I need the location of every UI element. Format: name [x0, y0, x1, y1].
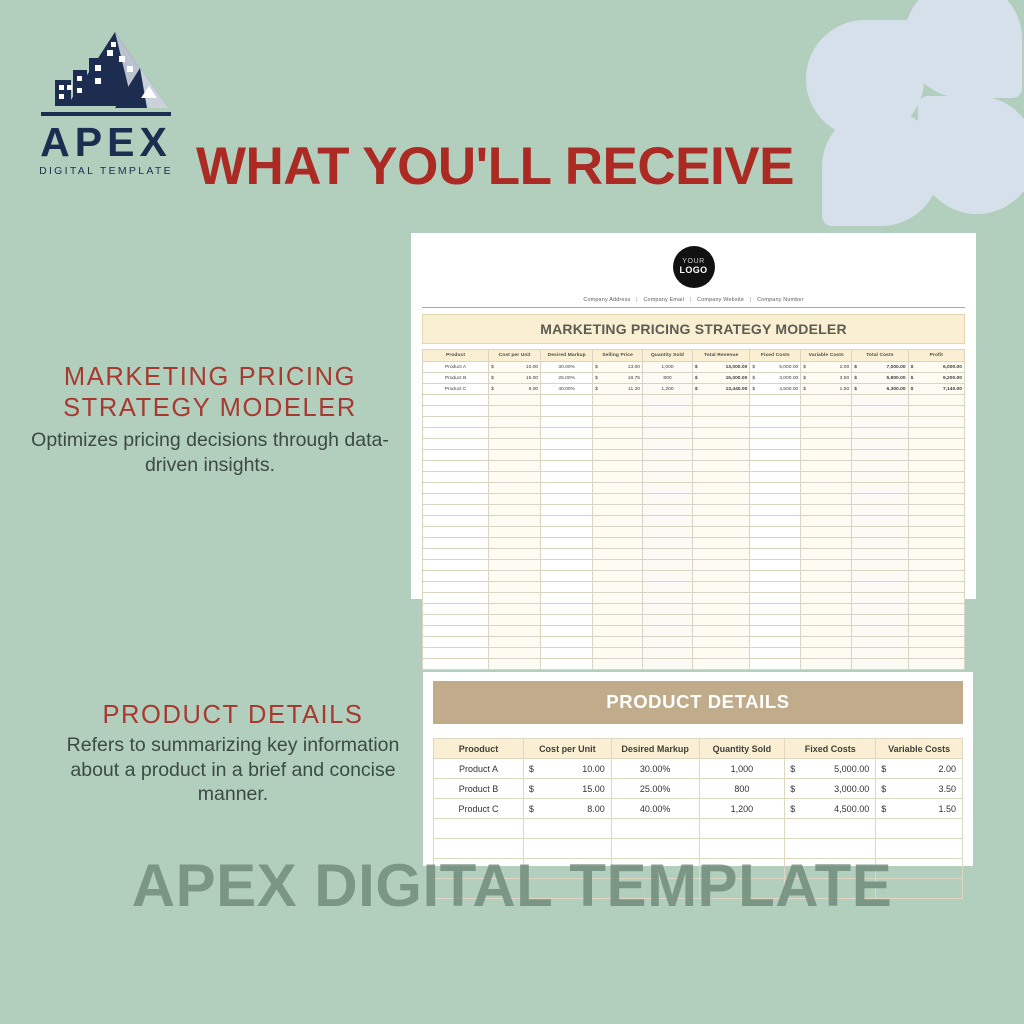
details-col-header: Prooduct [434, 739, 524, 759]
pricing-empty-cell [643, 593, 693, 604]
pricing-empty-cell [541, 406, 593, 417]
pricing-empty-cell [801, 494, 852, 505]
pricing-table-empty-row [423, 505, 965, 516]
details-cell-desired-markup: 40.00% [611, 799, 699, 819]
pricing-empty-cell [643, 582, 693, 593]
pricing-empty-cell [852, 472, 908, 483]
pricing-table-empty-row [423, 582, 965, 593]
details-empty-cell [785, 839, 876, 859]
pricing-empty-cell [852, 648, 908, 659]
pricing-cell-quantity-sold: 800 [643, 373, 693, 384]
pricing-empty-cell [852, 637, 908, 648]
pricing-empty-cell [852, 593, 908, 604]
pricing-empty-cell [489, 483, 541, 494]
pricing-empty-cell [801, 549, 852, 560]
pricing-empty-cell [852, 571, 908, 582]
section-description: Refers to summarizing key information ab… [60, 733, 406, 807]
details-empty-cell [523, 879, 611, 899]
pricing-empty-cell [541, 461, 593, 472]
contact-number: Company Number [757, 297, 804, 303]
pricing-cell-variable-costs: $3.50 [801, 373, 852, 384]
pricing-empty-cell [643, 604, 693, 615]
pricing-cell-selling-price: $13.00 [593, 362, 643, 373]
pricing-empty-cell [643, 648, 693, 659]
pricing-col-header: Product [423, 350, 489, 362]
details-empty-cell [785, 879, 876, 899]
pricing-empty-cell [593, 560, 643, 571]
pricing-empty-cell [489, 406, 541, 417]
your-logo-badge: YOUR LOGO [673, 246, 715, 288]
pricing-empty-cell [423, 560, 489, 571]
details-cell-fixed-costs: $3,000.00 [785, 779, 876, 799]
contact-email: Company Email [643, 297, 684, 303]
pricing-empty-cell [593, 428, 643, 439]
pricing-empty-cell [423, 417, 489, 428]
details-empty-cell [611, 859, 699, 879]
pricing-col-header: Total Revenue [692, 350, 749, 362]
pricing-empty-cell [423, 395, 489, 406]
contact-separator: | [686, 297, 696, 303]
pricing-empty-cell [643, 417, 693, 428]
pricing-empty-cell [750, 417, 801, 428]
pricing-empty-cell [801, 516, 852, 527]
pricing-empty-cell [593, 516, 643, 527]
pricing-empty-cell [852, 516, 908, 527]
pricing-table-empty-row [423, 527, 965, 538]
pricing-empty-cell [692, 604, 749, 615]
pricing-empty-cell [489, 626, 541, 637]
pricing-cell-total-revenue: $15,000.00 [692, 373, 749, 384]
product-details-spreadsheet-preview: PRODUCT DETAILS ProoductCost per UnitDes… [423, 672, 973, 866]
details-empty-cell [611, 819, 699, 839]
pricing-empty-cell [852, 505, 908, 516]
pricing-cell-product: Product B [423, 373, 489, 384]
pricing-empty-cell [908, 538, 964, 549]
pricing-empty-cell [593, 637, 643, 648]
pricing-table-empty-row [423, 604, 965, 615]
pricing-empty-cell [541, 637, 593, 648]
pricing-empty-cell [908, 461, 964, 472]
pricing-table-row: Product A$10.0030.00%$13.001,000$13,000.… [423, 362, 965, 373]
details-empty-cell [699, 879, 785, 899]
pricing-empty-cell [593, 494, 643, 505]
product-details-table: ProoductCost per UnitDesired MarkupQuant… [433, 738, 963, 899]
pricing-empty-cell [593, 483, 643, 494]
pricing-empty-cell [908, 428, 964, 439]
pricing-empty-cell [489, 461, 541, 472]
pricing-empty-cell [750, 615, 801, 626]
pricing-empty-cell [692, 593, 749, 604]
pricing-empty-cell [852, 560, 908, 571]
pricing-col-header: Selling Price [593, 350, 643, 362]
pricing-empty-cell [852, 417, 908, 428]
page-title: WHAT YOU'LL RECEIVE [196, 140, 794, 193]
pricing-col-header: Total Costs [852, 350, 908, 362]
pricing-empty-cell [643, 571, 693, 582]
pricing-empty-cell [801, 439, 852, 450]
details-table-row: Product A$10.0030.00%1,000$5,000.00$2.00 [434, 759, 963, 779]
section-details-copy: PRODUCT DETAILS Refers to summarizing ke… [60, 700, 406, 807]
pricing-empty-cell [643, 439, 693, 450]
pricing-empty-cell [801, 450, 852, 461]
pricing-table-empty-row [423, 615, 965, 626]
details-cell-variable-costs: $3.50 [876, 779, 963, 799]
details-empty-cell [876, 819, 963, 839]
pricing-cell-total-costs: $7,000.00 [852, 362, 908, 373]
pricing-table-empty-row [423, 461, 965, 472]
pricing-empty-cell [852, 450, 908, 461]
details-col-header: Quantity Sold [699, 739, 785, 759]
four-petal-flower-icon [806, 0, 1024, 234]
pricing-empty-cell [852, 582, 908, 593]
pricing-empty-cell [852, 659, 908, 670]
pricing-cell-desired-markup: 25.00% [541, 373, 593, 384]
pricing-empty-cell [541, 395, 593, 406]
pricing-empty-cell [489, 516, 541, 527]
pricing-empty-cell [489, 637, 541, 648]
pricing-empty-cell [801, 505, 852, 516]
pricing-table-empty-row [423, 549, 965, 560]
pricing-table-empty-row [423, 626, 965, 637]
pricing-empty-cell [593, 615, 643, 626]
pricing-cell-profit: $9,200.00 [908, 373, 964, 384]
pricing-empty-cell [423, 472, 489, 483]
details-cell-product: Product A [434, 759, 524, 779]
pricing-cell-total-revenue: $13,000.00 [692, 362, 749, 373]
details-empty-cell [876, 879, 963, 899]
pricing-empty-cell [593, 593, 643, 604]
pricing-empty-cell [643, 450, 693, 461]
pricing-col-header: Fixed Costs [750, 350, 801, 362]
details-col-header: Desired Markup [611, 739, 699, 759]
pricing-empty-cell [489, 593, 541, 604]
pricing-empty-cell [852, 483, 908, 494]
pricing-empty-cell [423, 527, 489, 538]
pricing-empty-cell [908, 659, 964, 670]
pricing-col-header: Desired Markup [541, 350, 593, 362]
pricing-empty-cell [643, 461, 693, 472]
pricing-empty-cell [423, 428, 489, 439]
pricing-empty-cell [643, 637, 693, 648]
section-pricing-copy: MARKETING PRICING STRATEGY MODELER Optim… [8, 362, 412, 477]
pricing-empty-cell [908, 560, 964, 571]
pricing-empty-cell [908, 626, 964, 637]
pricing-table-empty-row [423, 428, 965, 439]
pricing-col-header: Cost per Unit [489, 350, 541, 362]
section-title: PRODUCT DETAILS [60, 700, 406, 731]
pricing-empty-cell [750, 560, 801, 571]
details-empty-cell [699, 819, 785, 839]
pricing-empty-cell [801, 527, 852, 538]
pricing-empty-cell [423, 549, 489, 560]
details-table-body: Product A$10.0030.00%1,000$5,000.00$2.00… [434, 759, 963, 899]
pricing-empty-cell [541, 538, 593, 549]
pricing-empty-cell [692, 417, 749, 428]
pricing-empty-cell [692, 571, 749, 582]
pricing-empty-cell [801, 637, 852, 648]
pricing-empty-cell [801, 417, 852, 428]
pricing-empty-cell [489, 428, 541, 439]
pricing-empty-cell [852, 461, 908, 472]
pricing-empty-cell [801, 472, 852, 483]
pricing-empty-cell [643, 406, 693, 417]
pricing-empty-cell [593, 571, 643, 582]
details-col-header: Variable Costs [876, 739, 963, 759]
pricing-table-empty-row [423, 516, 965, 527]
pricing-cell-product: Product A [423, 362, 489, 373]
pricing-empty-cell [541, 428, 593, 439]
pricing-empty-cell [423, 483, 489, 494]
pricing-empty-cell [692, 516, 749, 527]
pricing-empty-cell [643, 538, 693, 549]
pricing-empty-cell [852, 527, 908, 538]
pricing-empty-cell [908, 406, 964, 417]
pricing-empty-cell [908, 472, 964, 483]
pricing-cell-fixed-costs: $3,000.00 [750, 373, 801, 384]
pricing-spreadsheet-preview: YOUR LOGO Company Address | Company Emai… [411, 233, 976, 599]
pricing-empty-cell [692, 461, 749, 472]
pricing-empty-cell [541, 549, 593, 560]
pricing-cell-variable-costs: $1.50 [801, 384, 852, 395]
pricing-empty-cell [423, 615, 489, 626]
pricing-empty-cell [908, 439, 964, 450]
pricing-empty-cell [643, 494, 693, 505]
pricing-empty-cell [692, 428, 749, 439]
pricing-empty-cell [852, 406, 908, 417]
pricing-table-empty-row [423, 648, 965, 659]
details-empty-cell [876, 839, 963, 859]
pricing-empty-cell [423, 659, 489, 670]
pricing-empty-cell [692, 560, 749, 571]
pricing-empty-cell [750, 483, 801, 494]
pricing-empty-cell [593, 439, 643, 450]
pricing-empty-cell [423, 450, 489, 461]
pricing-empty-cell [541, 593, 593, 604]
pricing-empty-cell [489, 659, 541, 670]
pricing-empty-cell [643, 560, 693, 571]
pricing-empty-cell [489, 494, 541, 505]
pricing-empty-cell [908, 604, 964, 615]
pricing-cell-desired-markup: 40.00% [541, 384, 593, 395]
pricing-empty-cell [750, 604, 801, 615]
pricing-empty-cell [643, 505, 693, 516]
pricing-empty-cell [593, 538, 643, 549]
pricing-empty-cell [643, 395, 693, 406]
pricing-empty-cell [852, 494, 908, 505]
pricing-empty-cell [593, 406, 643, 417]
pricing-table-empty-row [423, 593, 965, 604]
pricing-empty-cell [489, 395, 541, 406]
mountain-city-logo-icon [41, 28, 171, 118]
pricing-table-body: Product A$10.0030.00%$13.001,000$13,000.… [423, 362, 965, 670]
contact-separator: | [746, 297, 756, 303]
pricing-cell-fixed-costs: $5,000.00 [750, 362, 801, 373]
details-table-empty-row [434, 819, 963, 839]
pricing-empty-cell [852, 439, 908, 450]
pricing-empty-cell [908, 505, 964, 516]
pricing-table-empty-row [423, 406, 965, 417]
pricing-empty-cell [908, 615, 964, 626]
pricing-empty-cell [423, 582, 489, 593]
logo-badge-line2: LOGO [679, 265, 707, 276]
pricing-table-empty-row [423, 494, 965, 505]
details-empty-cell [434, 879, 524, 899]
pricing-empty-cell [852, 428, 908, 439]
details-cell-fixed-costs: $5,000.00 [785, 759, 876, 779]
details-cell-cost-per-unit: $8.00 [523, 799, 611, 819]
pricing-empty-cell [908, 582, 964, 593]
details-table-empty-row [434, 879, 963, 899]
pricing-empty-cell [593, 461, 643, 472]
pricing-empty-cell [489, 604, 541, 615]
pricing-empty-cell [423, 505, 489, 516]
pricing-empty-cell [750, 637, 801, 648]
details-cell-fixed-costs: $4,500.00 [785, 799, 876, 819]
pricing-empty-cell [489, 549, 541, 560]
pricing-empty-cell [908, 637, 964, 648]
pricing-cell-total-costs: $5,800.00 [852, 373, 908, 384]
details-empty-cell [876, 859, 963, 879]
pricing-empty-cell [908, 494, 964, 505]
pricing-empty-cell [541, 659, 593, 670]
pricing-empty-cell [593, 604, 643, 615]
pricing-empty-cell [489, 439, 541, 450]
pricing-empty-cell [643, 516, 693, 527]
pricing-empty-cell [593, 472, 643, 483]
pricing-empty-cell [489, 527, 541, 538]
pricing-empty-cell [750, 439, 801, 450]
pricing-empty-cell [750, 472, 801, 483]
pricing-empty-cell [908, 450, 964, 461]
pricing-empty-cell [593, 450, 643, 461]
pricing-empty-cell [801, 461, 852, 472]
pricing-empty-cell [801, 604, 852, 615]
pricing-cell-cost-per-unit: $10.00 [489, 362, 541, 373]
pricing-empty-cell [593, 582, 643, 593]
pricing-empty-cell [489, 582, 541, 593]
pricing-empty-cell [489, 472, 541, 483]
pricing-empty-cell [593, 505, 643, 516]
contact-website: Company Website [697, 297, 744, 303]
pricing-empty-cell [692, 549, 749, 560]
pricing-empty-cell [489, 648, 541, 659]
pricing-col-header: Quantity Sold [643, 350, 693, 362]
pricing-empty-cell [541, 615, 593, 626]
pricing-cell-profit: $7,140.00 [908, 384, 964, 395]
pricing-empty-cell [692, 637, 749, 648]
details-table-header-row: ProoductCost per UnitDesired MarkupQuant… [434, 739, 963, 759]
pricing-empty-cell [801, 571, 852, 582]
details-cell-product: Product C [434, 799, 524, 819]
details-cell-cost-per-unit: $10.00 [523, 759, 611, 779]
pricing-empty-cell [801, 395, 852, 406]
pricing-empty-cell [692, 494, 749, 505]
pricing-table-empty-row [423, 417, 965, 428]
pricing-cell-total-revenue: $13,440.00 [692, 384, 749, 395]
pricing-cell-fixed-costs: $4,500.00 [750, 384, 801, 395]
pricing-empty-cell [541, 483, 593, 494]
pricing-empty-cell [692, 626, 749, 637]
pricing-empty-cell [692, 505, 749, 516]
section-description: Optimizes pricing decisions through data… [8, 428, 412, 477]
pricing-empty-cell [643, 615, 693, 626]
pricing-empty-cell [801, 483, 852, 494]
details-cell-cost-per-unit: $15.00 [523, 779, 611, 799]
details-banner-title: PRODUCT DETAILS [433, 681, 963, 724]
pricing-empty-cell [423, 637, 489, 648]
details-cell-variable-costs: $1.50 [876, 799, 963, 819]
pricing-cell-quantity-sold: 1,000 [643, 362, 693, 373]
pricing-table-row: Product C$8.0040.00%$11.201,200$13,440.0… [423, 384, 965, 395]
pricing-empty-cell [852, 615, 908, 626]
logo-badge-line1: YOUR [682, 258, 705, 265]
pricing-empty-cell [750, 527, 801, 538]
pricing-empty-cell [750, 648, 801, 659]
pricing-empty-cell [593, 417, 643, 428]
pricing-empty-cell [750, 571, 801, 582]
pricing-empty-cell [541, 505, 593, 516]
pricing-empty-cell [489, 417, 541, 428]
pricing-empty-cell [643, 472, 693, 483]
pricing-empty-cell [852, 395, 908, 406]
pricing-empty-cell [801, 582, 852, 593]
pricing-empty-cell [750, 593, 801, 604]
pricing-empty-cell [423, 406, 489, 417]
details-cell-quantity-sold: 1,200 [699, 799, 785, 819]
details-cell-quantity-sold: 800 [699, 779, 785, 799]
pricing-table-empty-row [423, 439, 965, 450]
pricing-empty-cell [423, 604, 489, 615]
pricing-cell-total-costs: $6,300.00 [852, 384, 908, 395]
pricing-cell-product: Product C [423, 384, 489, 395]
details-empty-cell [523, 859, 611, 879]
pricing-empty-cell [692, 472, 749, 483]
pricing-empty-cell [692, 582, 749, 593]
pricing-empty-cell [643, 549, 693, 560]
pricing-empty-cell [750, 450, 801, 461]
details-table-row: Product B$15.0025.00%800$3,000.00$3.50 [434, 779, 963, 799]
pricing-table: ProductCost per UnitDesired MarkupSellin… [422, 349, 965, 670]
flower-petal [918, 96, 1024, 214]
pricing-empty-cell [593, 549, 643, 560]
pricing-empty-cell [750, 395, 801, 406]
pricing-empty-cell [801, 648, 852, 659]
pricing-empty-cell [489, 505, 541, 516]
pricing-empty-cell [908, 593, 964, 604]
pricing-table-empty-row [423, 571, 965, 582]
pricing-empty-cell [692, 527, 749, 538]
pricing-empty-cell [423, 593, 489, 604]
section-title: MARKETING PRICING STRATEGY MODELER [8, 362, 412, 424]
contact-address: Company Address [583, 297, 630, 303]
pricing-empty-cell [541, 527, 593, 538]
details-table-empty-row [434, 859, 963, 879]
pricing-empty-cell [643, 428, 693, 439]
pricing-empty-cell [541, 626, 593, 637]
pricing-col-header: Profit [908, 350, 964, 362]
pricing-empty-cell [801, 626, 852, 637]
details-empty-cell [785, 819, 876, 839]
pricing-empty-cell [750, 538, 801, 549]
details-empty-cell [611, 879, 699, 899]
pricing-empty-cell [908, 417, 964, 428]
pricing-empty-cell [541, 516, 593, 527]
pricing-empty-cell [852, 604, 908, 615]
details-cell-quantity-sold: 1,000 [699, 759, 785, 779]
pricing-table-empty-row [423, 637, 965, 648]
pricing-cell-desired-markup: 30.00% [541, 362, 593, 373]
pricing-table-row: Product B$15.0025.00%$18.75800$15,000.00… [423, 373, 965, 384]
